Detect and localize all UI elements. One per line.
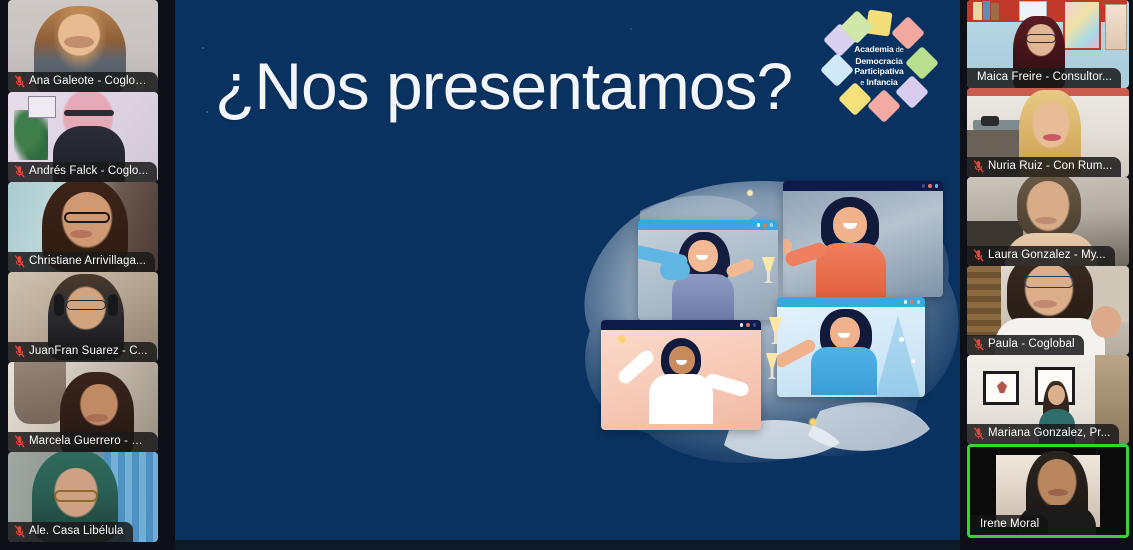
zoom-meeting-window: Ana Galeote - Coglobal Andrés Fa — [0, 0, 1133, 550]
slide-title: ¿Nos presentamos? — [215, 48, 792, 124]
participant-name-pill: Christiane Arrivillaga... — [8, 252, 155, 272]
logo-line-3: Participativa — [854, 66, 903, 76]
window-dot — [757, 223, 761, 227]
illustration-window-bottomright — [777, 297, 925, 397]
logo-line-4: Infancia — [866, 77, 897, 87]
window-screen — [777, 307, 925, 397]
window-dot — [904, 300, 908, 304]
window-dot — [917, 300, 921, 304]
participant-tile-active-speaker[interactable]: Irene Moral — [967, 444, 1129, 538]
mic-muted-icon — [14, 525, 25, 538]
participant-name: Christiane Arrivillaga... — [29, 255, 146, 268]
window-dot — [935, 184, 939, 188]
left-gallery-strip[interactable]: Ana Galeote - Coglobal Andrés Fa — [0, 0, 166, 550]
window-titlebar — [638, 220, 778, 230]
illustration-window-bottomleft — [601, 320, 761, 430]
participant-tile[interactable]: Paula - Coglobal — [967, 266, 1129, 355]
participant-tile[interactable]: Andrés Falck - Coglo... — [8, 92, 158, 182]
right-gallery-strip[interactable]: Maica Freire - Consultor... — [963, 0, 1133, 550]
participant-tile[interactable]: Marcela Guerrero - C... — [8, 362, 158, 452]
participant-name: Nuria Ruiz - Con Rum... — [988, 160, 1112, 173]
shared-screen-content[interactable]: ¿Nos presentamos? Academia de Democracia… — [175, 0, 960, 540]
window-dot — [763, 223, 767, 227]
participant-name: Laura Gonzalez - My... — [988, 249, 1106, 262]
mic-muted-icon — [973, 338, 984, 351]
participant-tile[interactable]: Mariana Gonzalez, Pr... — [967, 355, 1129, 444]
window-dot — [740, 323, 744, 327]
participant-name-pill: Marcela Guerrero - C... — [8, 432, 158, 452]
mic-muted-icon — [973, 249, 984, 262]
participant-tile[interactable]: Maica Freire - Consultor... — [967, 0, 1129, 88]
participant-name: Maica Freire - Consultor... — [977, 71, 1112, 84]
participant-name: Mariana Gonzalez, Pr... — [988, 427, 1110, 440]
sparkle — [746, 189, 754, 197]
window-dot — [753, 323, 757, 327]
logo-text: Academia de Democracia Participativa e I… — [840, 44, 918, 88]
mic-muted-icon — [14, 75, 25, 88]
slide-illustration — [570, 165, 960, 475]
participant-name: JuanFran Suarez - C... — [29, 345, 148, 358]
sparkle — [808, 417, 818, 427]
illustration-window-topright — [783, 181, 943, 297]
participant-tile[interactable]: Nuria Ruiz - Con Rum... — [967, 88, 1129, 177]
window-titlebar — [601, 320, 761, 330]
participant-tile[interactable]: JuanFran Suarez - C... — [8, 272, 158, 362]
window-titlebar — [777, 297, 925, 307]
window-dot — [770, 223, 774, 227]
participant-name-pill: Irene Moral — [970, 515, 1048, 535]
logo-line-1-suffix: de — [894, 45, 904, 54]
illustration-window-left — [638, 220, 778, 320]
window-dot — [922, 184, 926, 188]
mic-muted-icon — [973, 427, 984, 440]
mic-muted-icon — [14, 435, 25, 448]
participant-name: Ale. Casa Libélula — [29, 525, 124, 538]
window-titlebar — [783, 181, 943, 191]
participant-name-pill: Maica Freire - Consultor... — [967, 68, 1121, 88]
logo-line-1: Academia — [854, 44, 893, 54]
mic-muted-icon — [14, 345, 25, 358]
participant-name-pill: Ale. Casa Libélula — [8, 522, 133, 542]
mic-muted-icon — [973, 160, 984, 173]
logo-line-2: Democracia — [855, 56, 902, 66]
window-dot — [746, 323, 750, 327]
participant-name: Paula - Coglobal — [988, 338, 1075, 351]
window-dot — [910, 300, 914, 304]
participant-tile[interactable]: Christiane Arrivillaga... — [8, 182, 158, 272]
participant-name-pill: Ana Galeote - Coglobal — [8, 72, 158, 92]
participant-name: Irene Moral — [980, 518, 1039, 531]
window-dot — [928, 184, 932, 188]
participant-name-pill: Laura Gonzalez - My... — [967, 246, 1115, 266]
participant-tile[interactable]: Ale. Casa Libélula — [8, 452, 158, 542]
participant-tile[interactable]: Ana Galeote - Coglobal — [8, 0, 158, 92]
participant-name: Marcela Guerrero - C... — [29, 435, 149, 448]
participant-name-pill: Andrés Falck - Coglo... — [8, 162, 157, 182]
participant-name-pill: JuanFran Suarez - C... — [8, 342, 157, 362]
participant-name: Andrés Falck - Coglo... — [29, 165, 148, 178]
participant-tile[interactable]: Laura Gonzalez - My... — [967, 177, 1129, 266]
window-screen — [601, 330, 761, 430]
window-screen — [638, 230, 778, 320]
participant-name-pill: Paula - Coglobal — [967, 335, 1084, 355]
academia-logo: Academia de Democracia Participativa e I… — [820, 10, 938, 122]
shared-screen-bottom-edge — [175, 540, 960, 550]
participant-name-pill: Nuria Ruiz - Con Rum... — [967, 157, 1121, 177]
participant-name-pill: Mariana Gonzalez, Pr... — [967, 424, 1119, 444]
window-screen — [783, 191, 943, 297]
participant-name: Ana Galeote - Coglobal — [29, 75, 149, 88]
mic-muted-icon — [14, 255, 25, 268]
mic-muted-icon — [14, 165, 25, 178]
